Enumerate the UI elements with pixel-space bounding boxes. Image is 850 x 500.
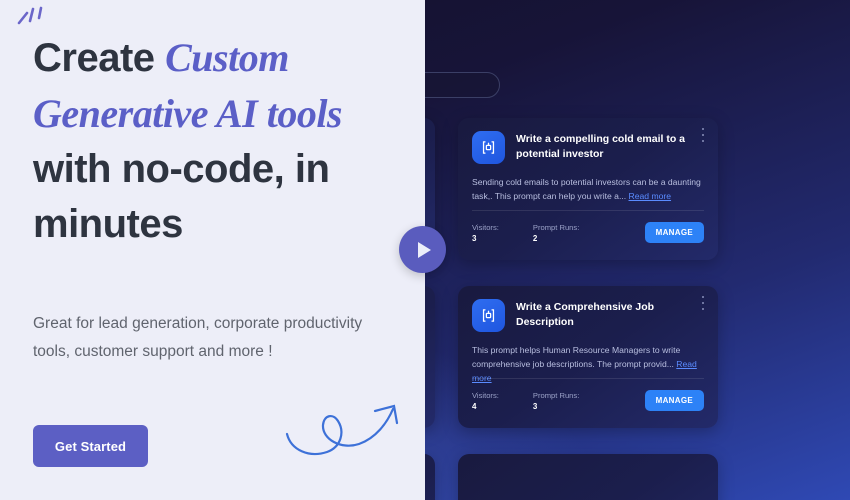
headline-part-plain-2: with no-code, in minutes <box>33 147 329 246</box>
page-title: Create Custom Generative AI tools with n… <box>33 30 403 252</box>
visitors-value: 3 <box>472 233 499 245</box>
prompt-runs-label: Prompt Runs: <box>533 222 579 233</box>
prompt-runs-stat: Prompt Runs: 3 <box>533 390 579 413</box>
prompt-card-cold-email-investor[interactable]: Write a compelling cold email to a poten… <box>458 118 718 260</box>
card-divider <box>472 378 704 379</box>
prompt-runs-value: 3 <box>533 401 579 413</box>
curved-arrow-doodle-icon <box>283 392 408 467</box>
prompt-card-grid: Project Management Plan als to create a … <box>425 118 850 500</box>
prompt-card-comprehensive-job-description[interactable]: Write a Comprehensive Job Description Th… <box>458 286 718 428</box>
prompt-card-social-media-post[interactable]: ocial Media Post t you like, but you wan… <box>425 286 435 428</box>
prompt-runs-value: 2 <box>533 233 579 245</box>
card-divider <box>472 210 704 211</box>
play-video-button[interactable] <box>399 226 446 273</box>
card-description: Sending cold emails to potential investo… <box>472 175 704 203</box>
visitors-value: 4 <box>472 401 499 413</box>
prompt-card-row3-left[interactable] <box>425 454 435 500</box>
hero-subtext: Great for lead generation, corporate pro… <box>33 310 363 366</box>
search-input[interactable]: Search <box>425 72 500 98</box>
card-footer: Visitors: 3 Prompt Runs: 2 MANAGE <box>472 222 704 245</box>
manage-button[interactable]: MANAGE <box>645 222 704 243</box>
prompt-runs-label: Prompt Runs: <box>533 390 579 401</box>
card-footer: Visitors: 4 Prompt Runs: 3 MANAGE <box>472 390 704 413</box>
visitors-stat: Visitors: 3 <box>472 222 499 245</box>
visitors-label: Visitors: <box>472 390 499 401</box>
prompt-runs-stat: Prompt Runs: 2 <box>533 222 579 245</box>
prompt-brackets-icon <box>472 299 505 332</box>
visitors-label: Visitors: <box>472 222 499 233</box>
manage-button[interactable]: MANAGE <box>645 390 704 411</box>
visitors-stat: Visitors: 4 <box>472 390 499 413</box>
more-options-icon[interactable] <box>698 128 707 142</box>
get-started-button[interactable]: Get Started <box>33 425 148 467</box>
headline-part-plain-1: Create <box>33 36 165 80</box>
card-title: Write a Comprehensive Job Description <box>516 299 704 330</box>
play-triangle-icon <box>418 242 431 258</box>
landing-hero-screenshot: Search Project Management Plan <box>0 0 850 500</box>
app-preview-panel: Search Project Management Plan <box>425 0 850 500</box>
prompt-card-row3-right[interactable] <box>458 454 718 500</box>
more-options-icon[interactable] <box>698 296 707 310</box>
hero-panel: Create Custom Generative AI tools with n… <box>0 0 425 500</box>
prompt-brackets-icon <box>472 131 505 164</box>
read-more-link[interactable]: Read more <box>629 191 672 201</box>
card-title: Write a compelling cold email to a poten… <box>516 131 704 162</box>
